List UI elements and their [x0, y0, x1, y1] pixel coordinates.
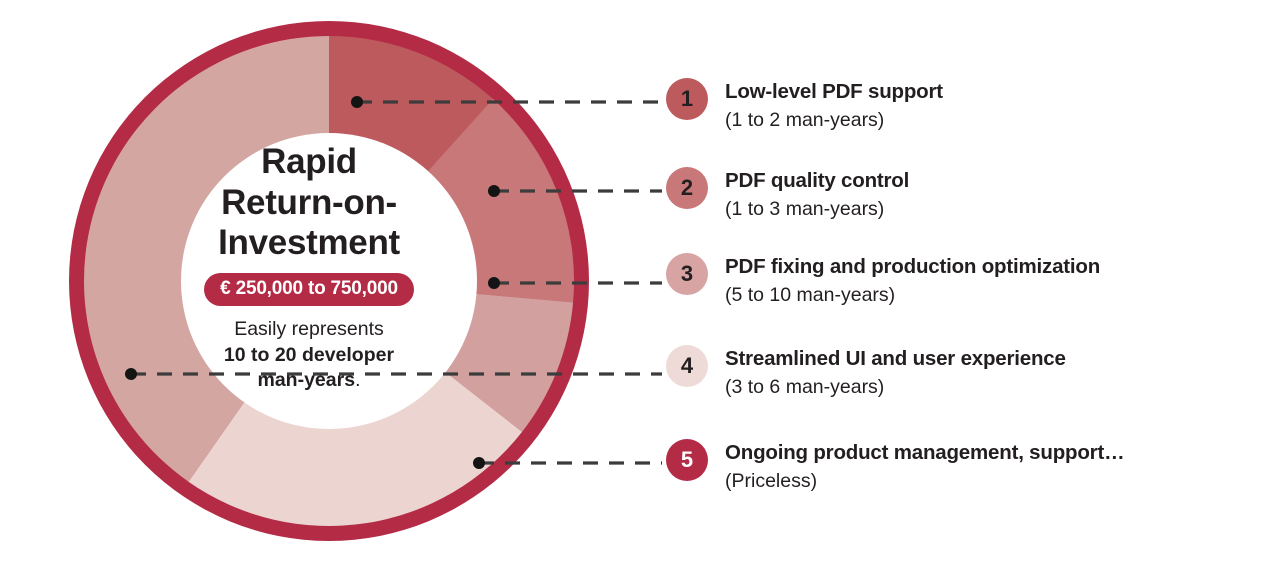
infographic-canvas: Rapid Return-on- Investment € 250,000 to… [0, 0, 1280, 561]
legend-title-4: Streamlined UI and user experience [725, 346, 1066, 371]
legend-bullet-number-1: 1 [681, 86, 693, 112]
legend-bullet-5: 5 [666, 439, 708, 481]
legend-sub-3: (5 to 10 man-years) [725, 283, 1100, 308]
legend-list: 1 Low-level PDF support (1 to 2 man-year… [666, 0, 1280, 561]
donut-hub [181, 133, 477, 429]
legend-title-3: PDF fixing and production optimization [725, 254, 1100, 279]
legend-bullet-2: 2 [666, 167, 708, 209]
legend-sub-1: (1 to 2 man-years) [725, 108, 943, 133]
legend-item-2[interactable]: 2 PDF quality control (1 to 3 man-years) [666, 166, 909, 222]
legend-item-1[interactable]: 1 Low-level PDF support (1 to 2 man-year… [666, 77, 943, 133]
legend-bullet-3: 3 [666, 253, 708, 295]
legend-bullet-number-2: 2 [681, 175, 693, 201]
legend-title-2: PDF quality control [725, 168, 909, 193]
legend-title-1: Low-level PDF support [725, 79, 943, 104]
legend-title-5: Ongoing product management, support… [725, 440, 1124, 465]
legend-text-2: PDF quality control (1 to 3 man-years) [725, 166, 909, 222]
legend-text-1: Low-level PDF support (1 to 2 man-years) [725, 77, 943, 133]
legend-text-3: PDF fixing and production optimization (… [725, 252, 1100, 308]
legend-bullet-number-3: 3 [681, 261, 693, 287]
legend-bullet-1: 1 [666, 78, 708, 120]
legend-text-4: Streamlined UI and user experience (3 to… [725, 344, 1066, 400]
legend-item-4[interactable]: 4 Streamlined UI and user experience (3 … [666, 344, 1066, 400]
legend-bullet-number-4: 4 [681, 353, 693, 379]
legend-bullet-number-5: 5 [681, 447, 693, 473]
legend-item-5[interactable]: 5 Ongoing product management, support… (… [666, 438, 1124, 494]
legend-bullet-4: 4 [666, 345, 708, 387]
donut-chart-svg [62, 14, 596, 548]
legend-text-5: Ongoing product management, support… (Pr… [725, 438, 1124, 494]
legend-item-3[interactable]: 3 PDF fixing and production optimization… [666, 252, 1100, 308]
legend-sub-5: (Priceless) [725, 469, 1124, 494]
legend-sub-2: (1 to 3 man-years) [725, 197, 909, 222]
donut-chart [62, 14, 596, 548]
legend-sub-4: (3 to 6 man-years) [725, 375, 1066, 400]
